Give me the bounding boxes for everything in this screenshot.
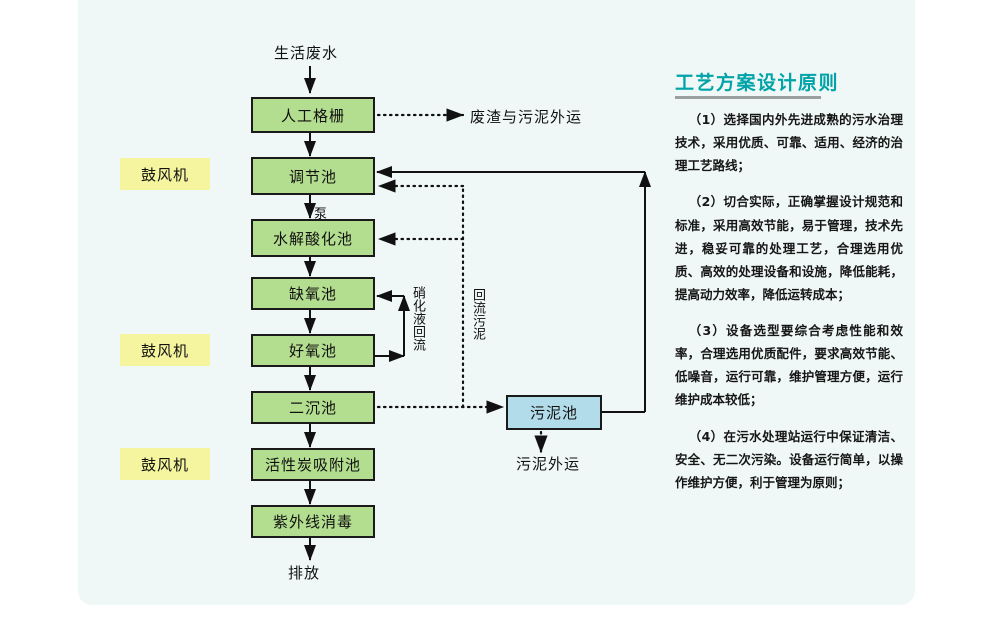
node-label: 好氧池 (289, 340, 337, 361)
sludge-transport-label: 污泥外运 (516, 453, 580, 474)
inlet-label: 生活废水 (274, 42, 338, 63)
node-hydrolysis-acidification-tank[interactable]: 水解酸化池 (251, 219, 375, 257)
node-label: 人工格栅 (281, 105, 345, 126)
nitrification-return-label: 硝化液回流 (410, 286, 425, 351)
principle-item: （1）选择国内外先进成熟的污水治理技术，采用优质、可靠、适用、经济的治理工艺路线… (675, 108, 903, 177)
node-label: 二沉池 (289, 397, 337, 418)
sludge-return-label: 回流污泥 (470, 288, 485, 340)
blower-label: 鼓风机 (141, 164, 189, 185)
node-activated-carbon-adsorption-tank[interactable]: 活性炭吸附池 (251, 448, 375, 481)
node-secondary-settling-tank[interactable]: 二沉池 (251, 391, 375, 424)
nitrification-return-text: 硝化液回流 (410, 286, 424, 351)
node-regulating-tank[interactable]: 调节池 (251, 157, 375, 195)
node-sludge-tank[interactable]: 污泥池 (506, 395, 602, 430)
flow-connectors (78, 0, 678, 605)
waste-transport-label: 废渣与污泥外运 (470, 106, 582, 127)
node-label: 调节池 (289, 166, 337, 187)
blower-label: 鼓风机 (141, 454, 189, 475)
node-label: 缺氧池 (289, 283, 337, 304)
node-aerobic-tank[interactable]: 好氧池 (251, 334, 375, 367)
sludge-return-text: 回流污泥 (470, 288, 484, 340)
node-label: 水解酸化池 (273, 228, 353, 249)
node-label: 污泥池 (530, 402, 578, 423)
content-card: 生活废水 排放 泵 废渣与污泥外运 污泥外运 硝化液回流 回流污泥 人工格栅 调… (78, 0, 915, 605)
node-anoxic-tank[interactable]: 缺氧池 (251, 277, 375, 310)
design-principles-panel: 工艺方案设计原则 （1）选择国内外先进成熟的污水治理技术，采用优质、可靠、适用、… (675, 0, 915, 605)
title-underline (675, 96, 821, 99)
node-label: 紫外线消毒 (273, 511, 353, 532)
principle-item: （2）切合实际，正确掌握设计规范和标准，采用高效节能，易于管理，技术先进，稳妥可… (675, 190, 903, 306)
blower-aerobic-tank[interactable]: 鼓风机 (120, 334, 210, 366)
outlet-label: 排放 (288, 562, 320, 583)
node-label: 活性炭吸附池 (265, 454, 361, 475)
panel-body: （1）选择国内外先进成熟的污水治理技术，采用优质、可靠、适用、经济的治理工艺路线… (675, 108, 903, 507)
panel-title: 工艺方案设计原则 (675, 68, 839, 95)
process-flow-diagram: 生活废水 排放 泵 废渣与污泥外运 污泥外运 硝化液回流 回流污泥 人工格栅 调… (78, 0, 678, 605)
principle-item: （4）在污水处理站运行中保证清洁、安全、无二次污染。设备运行简单，以操作维护方便… (675, 425, 903, 494)
principle-item: （3）设备选型要综合考虑性能和效率，合理选用优质配件，要求高效节能、低噪音，运行… (675, 319, 903, 412)
blower-carbon-tank[interactable]: 鼓风机 (120, 448, 210, 480)
blower-label: 鼓风机 (141, 340, 189, 361)
blower-regulating-tank[interactable]: 鼓风机 (120, 158, 210, 190)
node-manual-grate[interactable]: 人工格栅 (251, 97, 375, 133)
node-uv-disinfection[interactable]: 紫外线消毒 (251, 505, 375, 538)
